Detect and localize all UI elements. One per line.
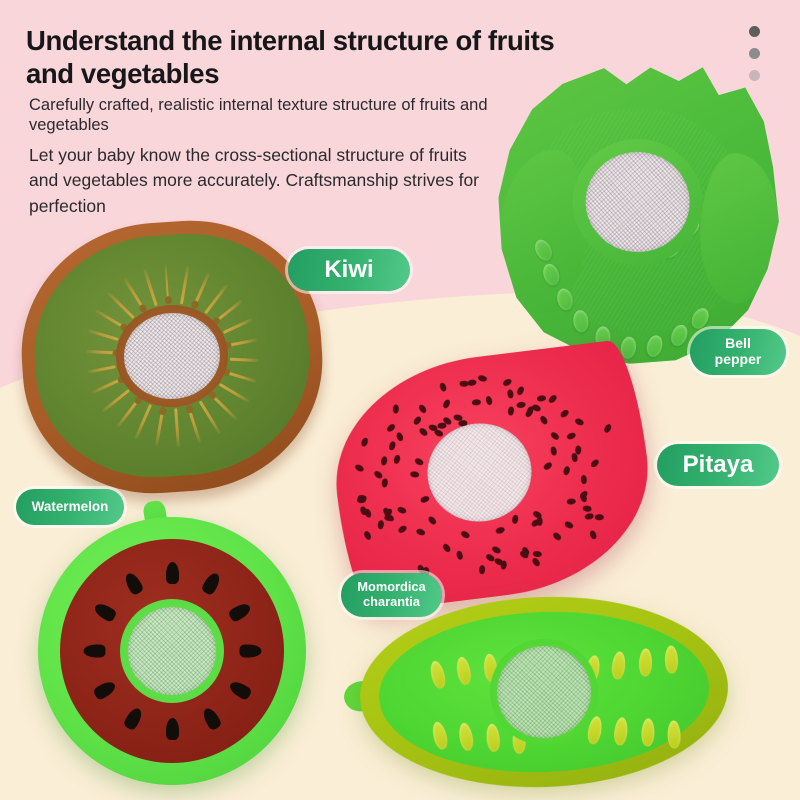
momordica-seed (485, 724, 501, 753)
kiwi-seed-line (88, 329, 119, 341)
pitaya-seed (565, 431, 575, 440)
label-pill-watermelon[interactable]: Watermelon (16, 489, 124, 525)
momordica-seed (428, 659, 447, 689)
pitaya-seed (574, 417, 584, 426)
pitaya-seed (396, 432, 404, 442)
momordica-rind (357, 591, 731, 794)
label-pill-pitaya-text: Pitaya (683, 451, 754, 478)
pitaya-seed (360, 436, 368, 446)
momordica-seed (638, 648, 652, 676)
momordica-seed (667, 720, 681, 748)
pitaya-seed (373, 469, 383, 479)
momordica-seed (641, 719, 655, 747)
pitaya-seed (590, 458, 600, 468)
product-banner: Understand the internal structure of fru… (0, 0, 800, 800)
pitaya-seed (486, 395, 494, 405)
kiwi-seed-line (222, 318, 252, 334)
watermelon-flesh (60, 539, 284, 763)
momordica-seed (430, 720, 449, 750)
momordica-flesh (376, 606, 711, 777)
pitaya-seed (359, 505, 367, 515)
kiwi-seed-dot (164, 295, 172, 303)
pitaya-seed (397, 524, 408, 534)
pitaya-seed (507, 406, 514, 416)
pitaya-seed (415, 527, 425, 535)
product-kiwi[interactable] (13, 212, 331, 502)
carousel-dot-icon-1[interactable] (749, 26, 760, 37)
bell-pepper-outer-shell (484, 57, 789, 372)
pitaya-seed (511, 514, 518, 524)
kiwi-seed-line (107, 292, 135, 319)
label-pill-bell-pepper-line2: pepper (715, 352, 762, 368)
pitaya-seed (507, 389, 514, 399)
pitaya-seed (420, 495, 430, 503)
pitaya-seed (603, 423, 612, 434)
pitaya-seed (437, 422, 446, 428)
pitaya-seed (388, 440, 396, 450)
momordica-seed (665, 645, 679, 673)
pitaya-seed (397, 506, 407, 514)
kiwi-seed-line (219, 382, 250, 402)
watermelon-seed (122, 706, 144, 732)
bell-pepper-seed (645, 334, 665, 359)
momordica-seed (611, 651, 627, 680)
pitaya-seed (442, 398, 451, 409)
watermelon-seed (227, 679, 253, 701)
pitaya-seed (386, 422, 396, 432)
pitaya-seed (585, 513, 595, 520)
pitaya-seed (516, 401, 526, 408)
pitaya-seed (393, 454, 401, 464)
pitaya-seed (582, 505, 592, 512)
pitaya-seed (380, 456, 387, 466)
pitaya-seed (548, 394, 558, 404)
watermelon-seed (200, 571, 222, 597)
pitaya-seed (502, 377, 513, 386)
pitaya-seed (549, 431, 559, 441)
kiwi-seed-line (180, 265, 189, 304)
pitaya-seed (495, 526, 505, 534)
pitaya-seed (532, 551, 542, 558)
pitaya-seed (537, 395, 547, 402)
watermelon-seed (122, 571, 144, 597)
product-watermelon[interactable] (38, 517, 306, 785)
label-pill-bell-pepper[interactable]: Bell pepper (690, 329, 786, 375)
kiwi-seed-line (199, 400, 221, 433)
pitaya-seed (563, 466, 571, 476)
page-title: Understand the internal structure of fru… (26, 24, 566, 91)
watermelon-seed (166, 562, 179, 584)
kiwi-seed-line (174, 408, 179, 447)
pitaya-seed (442, 542, 452, 552)
pitaya-seed (427, 515, 437, 525)
watermelon-seed (200, 706, 222, 732)
watermelon-rind (38, 517, 306, 785)
pitaya-seed (409, 470, 419, 477)
pitaya-seed (589, 529, 597, 539)
label-pill-kiwi-text: Kiwi (324, 256, 373, 283)
label-pill-momordica[interactable]: Momordica charantia (341, 573, 442, 617)
watermelon-seed (83, 645, 105, 658)
pitaya-seed (580, 475, 586, 484)
kiwi-seed-dot (158, 406, 166, 415)
pitaya-seed (559, 408, 569, 418)
pitaya-seed (564, 520, 575, 529)
pitaya-seed (467, 379, 477, 386)
kiwi-seed-line (229, 357, 258, 361)
momordica-seed (455, 656, 473, 686)
pitaya-seed (460, 529, 471, 538)
kiwi-seed-line (228, 338, 257, 346)
pitaya-seed (472, 399, 481, 405)
pitaya-seed (479, 565, 485, 574)
kiwi-seed-dot (184, 404, 193, 414)
watermelon-seed (166, 718, 179, 740)
pitaya-seed (355, 463, 366, 472)
pitaya-seed (439, 382, 447, 392)
label-pill-bell-pepper-line1: Bell (725, 336, 751, 352)
pitaya-seed (542, 461, 553, 471)
kiwi-seed-line (102, 389, 130, 412)
watermelon-seed (92, 679, 118, 701)
pitaya-seed (595, 514, 604, 520)
pitaya-seed (575, 446, 581, 455)
kiwi-seed-line (204, 283, 228, 313)
label-pill-watermelon-text: Watermelon (32, 499, 109, 514)
pitaya-seed (412, 415, 422, 425)
momordica-seed (613, 717, 629, 746)
product-bell-pepper[interactable] (484, 57, 789, 372)
pitaya-seed (566, 498, 575, 504)
label-pill-pitaya[interactable]: Pitaya (657, 444, 779, 486)
pitaya-seed (516, 385, 525, 396)
pitaya-seed (477, 375, 487, 383)
pitaya-seed (551, 446, 558, 456)
kiwi-seed-line (87, 365, 116, 373)
pitaya-seed (552, 531, 562, 541)
pitaya-seed (357, 497, 366, 503)
pitaya-seed (456, 550, 464, 560)
watermelon-seed (227, 601, 253, 623)
label-pill-momordica-line1: Momordica (357, 580, 425, 595)
pitaya-seed (419, 426, 429, 436)
pitaya-seed (363, 530, 372, 541)
pitaya-seed (531, 556, 541, 566)
watermelon-seed (92, 601, 118, 623)
carousel-dot-icon-2[interactable] (749, 48, 760, 59)
pitaya-seed (434, 428, 445, 437)
product-momordica-charantia[interactable] (357, 591, 731, 794)
label-pill-momordica-line2: charantia (363, 595, 420, 610)
kiwi-seed-line (134, 404, 152, 440)
watermelon-seed (239, 645, 261, 658)
pitaya-seed (377, 519, 384, 529)
pitaya-seed (393, 404, 399, 413)
pitaya-seed (414, 457, 425, 466)
kiwi-seed-line (86, 350, 115, 354)
pitaya-seed (381, 478, 388, 488)
pitaya-seed (491, 545, 502, 554)
momordica-seed (457, 722, 475, 752)
subtitle-primary: Carefully crafted, realistic internal te… (29, 95, 519, 136)
watermelon-mesh-center (128, 607, 216, 695)
pitaya-seed (500, 560, 507, 570)
kiwi-seed-line (143, 268, 157, 306)
label-pill-kiwi[interactable]: Kiwi (288, 249, 410, 291)
pitaya-seed (418, 403, 428, 414)
subtitle-secondary: Let your baby know the cross-sectional s… (29, 143, 499, 219)
pitaya-seed (539, 415, 549, 426)
